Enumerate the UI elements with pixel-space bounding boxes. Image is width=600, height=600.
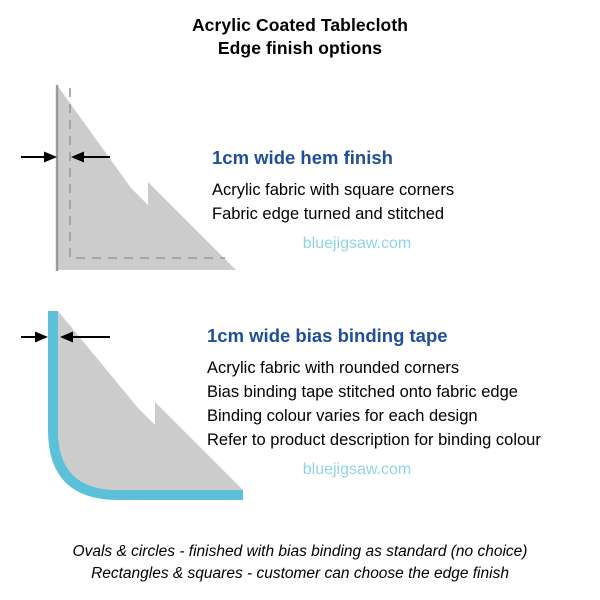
section-line: Acrylic fabric with rounded corners — [207, 356, 541, 380]
page-title: Acrylic Coated Tablecloth Edge finish op… — [0, 14, 600, 60]
footer-line-1: Ovals & circles - finished with bias bin… — [0, 541, 600, 563]
section-line: Acrylic fabric with square corners — [212, 178, 502, 202]
fabric-shape-square-corner — [57, 85, 236, 270]
section-lines-bias-binding: Acrylic fabric with rounded corners Bias… — [207, 356, 541, 452]
arrow-left-icon — [60, 332, 110, 343]
section-line: Binding colour varies for each design — [207, 404, 541, 428]
section-heading-hem-finish: 1cm wide hem finish — [212, 146, 502, 170]
rounded-corner-binding-diagram — [0, 0, 600, 600]
arrow-right-icon — [21, 332, 48, 343]
section-line: Refer to product description for binding… — [207, 428, 541, 452]
title-line-1: Acrylic Coated Tablecloth — [0, 14, 600, 37]
square-corner-hem-diagram — [0, 0, 600, 600]
watermark-bluejigsaw: bluejigsaw.com — [212, 232, 502, 256]
title-line-2: Edge finish options — [0, 37, 600, 60]
diagram-page: Acrylic Coated Tablecloth Edge finish op… — [0, 0, 600, 600]
section-line: Fabric edge turned and stitched — [212, 202, 502, 226]
arrow-left-icon — [71, 152, 110, 163]
footer-note: Ovals & circles - finished with bias bin… — [0, 541, 600, 585]
footer-line-2: Rectangles & squares - customer can choo… — [0, 563, 600, 585]
section-heading-bias-binding: 1cm wide bias binding tape — [207, 324, 541, 348]
section-lines-hem-finish: Acrylic fabric with square corners Fabri… — [212, 178, 502, 226]
section-line: Bias binding tape stitched onto fabric e… — [207, 380, 541, 404]
arrow-right-icon — [21, 152, 57, 163]
section-text-bias-binding: 1cm wide bias binding tape Acrylic fabri… — [207, 324, 541, 482]
section-text-hem-finish: 1cm wide hem finish Acrylic fabric with … — [212, 146, 502, 256]
hem-stitch-dashed-line — [70, 88, 225, 258]
watermark-bluejigsaw: bluejigsaw.com — [207, 458, 507, 482]
